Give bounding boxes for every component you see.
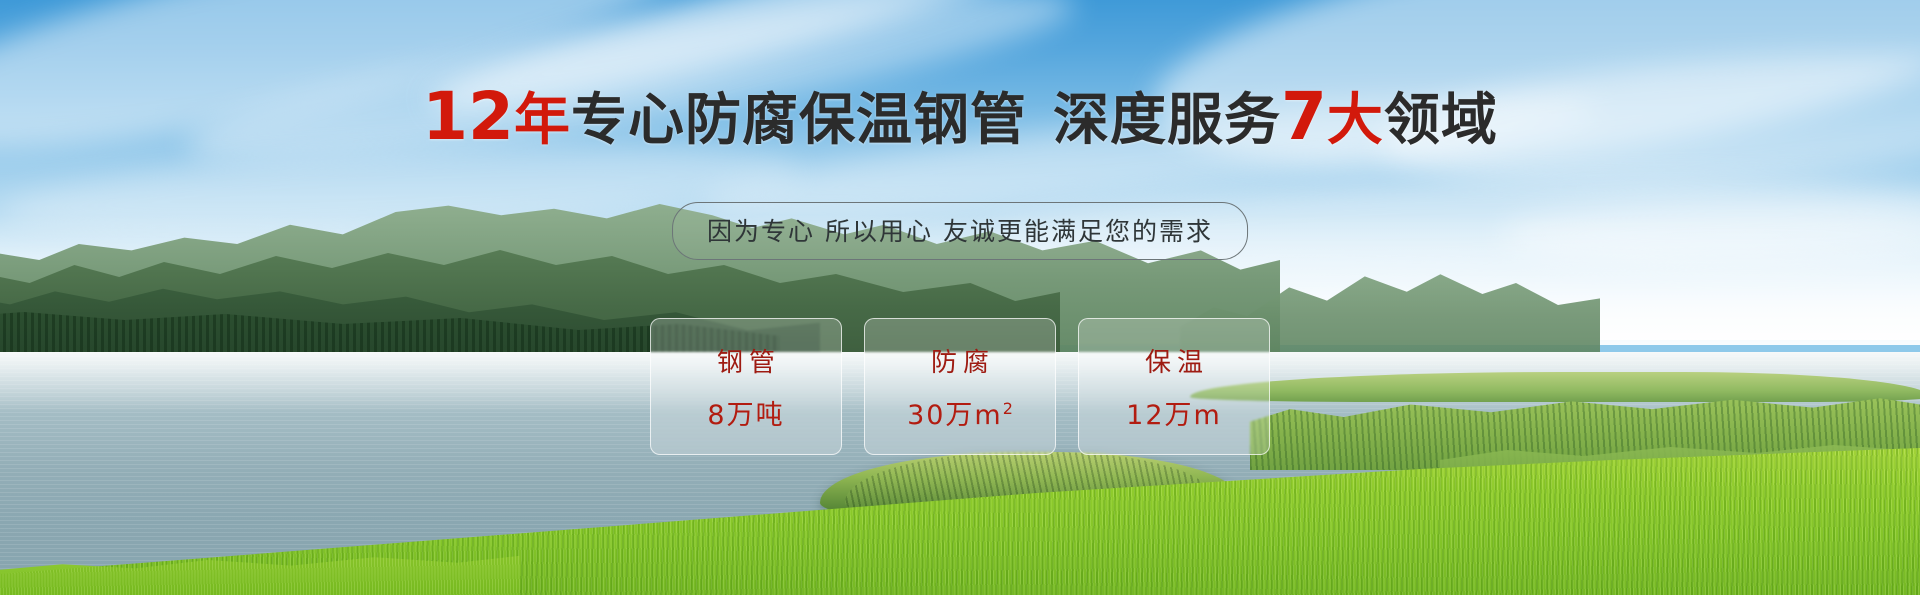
- stat-card-label: 钢管: [711, 342, 781, 379]
- headline-fields-unit: 大: [1327, 88, 1384, 153]
- headline-service-text: 深度服务: [1053, 88, 1281, 153]
- headline-main-text: 专心防腐保温钢管: [571, 88, 1027, 153]
- headline-years-unit: 年: [514, 88, 571, 153]
- stat-value-superscript: 2: [1003, 399, 1013, 418]
- stat-card-group: 钢管 8万吨 防腐 30万m2 保温 12万m: [650, 318, 1270, 455]
- stat-card-insulation[interactable]: 保温 12万m: [1078, 318, 1270, 455]
- stat-card-label: 防腐: [925, 342, 995, 379]
- headline-years-number: 12: [422, 78, 514, 155]
- stat-card-value: 12万m: [1126, 393, 1222, 432]
- stat-value-main: 30万m: [907, 400, 1003, 431]
- stat-card-anticorrosion[interactable]: 防腐 30万m2: [864, 318, 1056, 455]
- stat-card-value: 30万m2: [907, 393, 1013, 432]
- stat-card-steel-pipe[interactable]: 钢管 8万吨: [650, 318, 842, 455]
- stat-value-main: 12万m: [1126, 400, 1222, 431]
- hero-banner: 12年专心防腐保温钢管深度服务7大领域 因为专心 所以用心 友诚更能满足您的需求…: [0, 0, 1920, 595]
- banner-subtitle-pill: 因为专心 所以用心 友诚更能满足您的需求: [672, 202, 1248, 260]
- stat-card-value: 8万吨: [707, 393, 784, 432]
- headline-fields-number: 7: [1281, 78, 1327, 155]
- stat-value-main: 8万吨: [707, 400, 784, 431]
- headline-fields-text: 领域: [1384, 88, 1498, 153]
- stat-card-label: 保温: [1139, 342, 1209, 379]
- banner-headline: 12年专心防腐保温钢管深度服务7大领域: [0, 86, 1920, 152]
- banner-content: 12年专心防腐保温钢管深度服务7大领域 因为专心 所以用心 友诚更能满足您的需求…: [0, 0, 1920, 595]
